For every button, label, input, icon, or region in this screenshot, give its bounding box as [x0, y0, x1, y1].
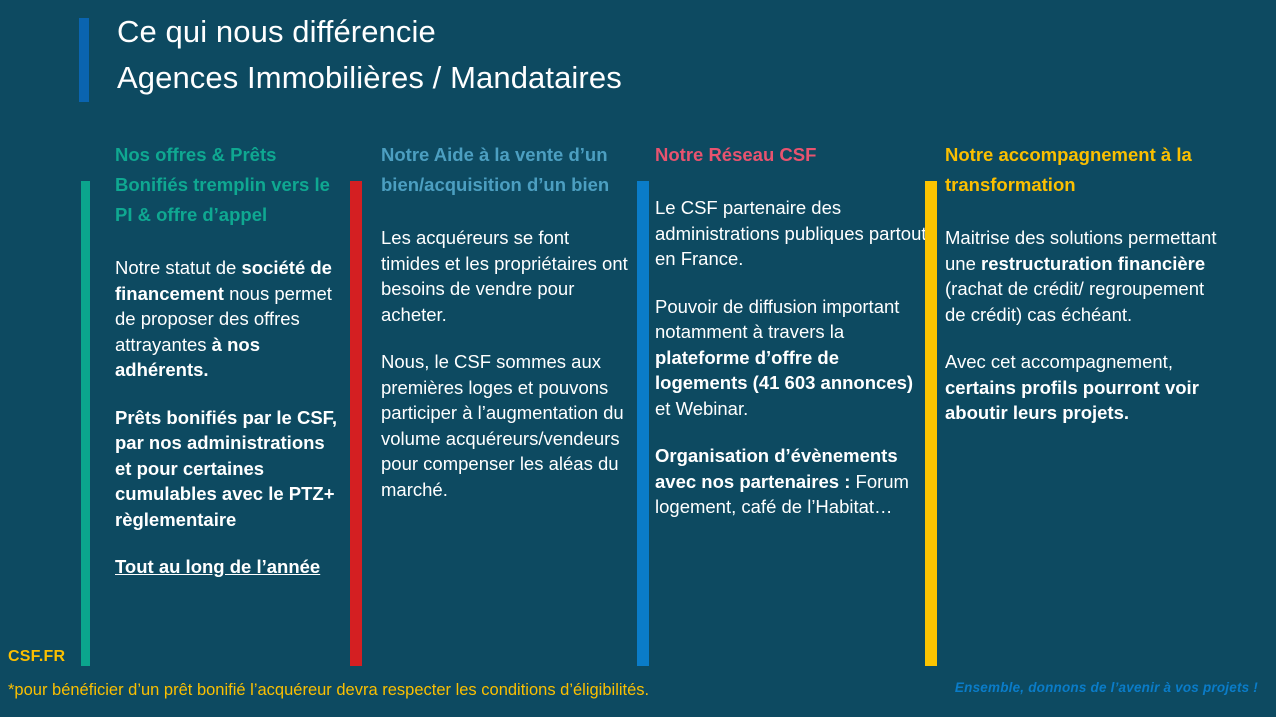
- column-accent-bar-3: [637, 181, 649, 666]
- footer-brand: CSF.FR: [8, 648, 65, 666]
- spacer: [945, 200, 1225, 225]
- spacer: [655, 421, 930, 443]
- spacer: [115, 383, 345, 405]
- footer-disclaimer: *pour bénéficier d’un prêt bonifié l’acq…: [8, 681, 649, 700]
- spacer: [381, 200, 631, 225]
- slide-title-block: Ce qui nous différencie Agences Immobili…: [79, 16, 1179, 106]
- column-paragraph-2-2: Nous, le CSF sommes aux premières loges …: [381, 349, 631, 502]
- column-underlined-note-1: Tout au long de l’année: [115, 554, 345, 580]
- column-paragraph-1-2: Prêts bonifiés par le CSF, par nos admin…: [115, 405, 345, 533]
- spacer: [655, 272, 930, 294]
- column-accent-bar-4: [925, 181, 937, 666]
- column-paragraph-3-3: Organisation d’évènements avec nos parte…: [655, 443, 930, 520]
- column-body-1: Nos offres & Prêts Bonifiés tremplin ver…: [115, 140, 345, 580]
- column-heading-1: Nos offres & Prêts Bonifiés tremplin ver…: [115, 140, 345, 230]
- spacer: [655, 170, 930, 195]
- column-body-3: Notre Réseau CSF Le CSF partenaire des a…: [655, 140, 930, 520]
- column-heading-2: Notre Aide à la vente d’un bien/acquisit…: [381, 140, 631, 200]
- column-paragraph-3-1: Le CSF partenaire des administrations pu…: [655, 195, 930, 272]
- spacer: [381, 327, 631, 349]
- column-body-2: Notre Aide à la vente d’un bien/acquisit…: [381, 140, 631, 502]
- footer-tagline: Ensemble, donnons de l’avenir à vos proj…: [955, 680, 1258, 695]
- column-body-4: Notre accompagnement à la transformation…: [945, 140, 1225, 426]
- spacer: [115, 230, 345, 255]
- spacer: [115, 532, 345, 554]
- column-paragraph-4-2: Avec cet accompagnement, certains profil…: [945, 349, 1225, 426]
- slide-canvas: Ce qui nous différencie Agences Immobili…: [0, 0, 1276, 717]
- title-accent-bar: [79, 18, 89, 102]
- column-accent-bar-1: [81, 181, 90, 666]
- column-paragraph-1-1: Notre statut de société de financement n…: [115, 255, 345, 383]
- page-title: Ce qui nous différencie Agences Immobili…: [117, 9, 622, 101]
- column-accent-bar-2: [350, 181, 362, 666]
- column-paragraph-2-1: Les acquéreurs se font timides et les pr…: [381, 225, 631, 327]
- column-paragraph-4-1: Maitrise des solutions permettant une re…: [945, 225, 1225, 327]
- column-heading-3: Notre Réseau CSF: [655, 140, 930, 170]
- column-heading-4: Notre accompagnement à la transformation: [945, 140, 1225, 200]
- column-paragraph-3-2: Pouvoir de diffusion important notamment…: [655, 294, 930, 422]
- spacer: [945, 327, 1225, 349]
